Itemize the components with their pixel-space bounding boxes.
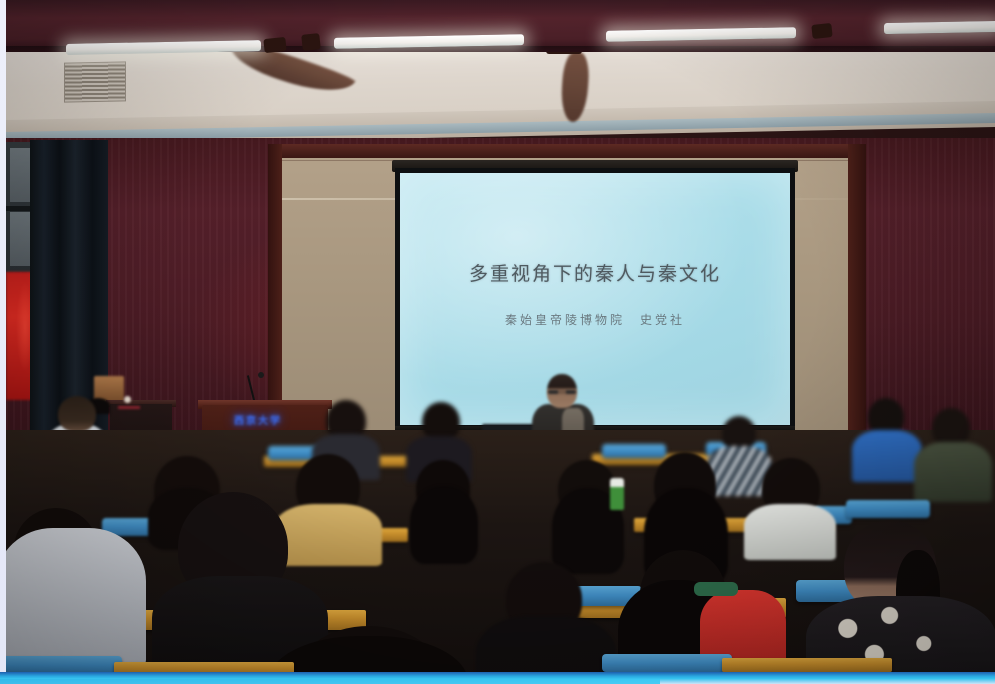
audience-collar-n3-green [694,582,738,596]
desk-bottom-left [114,662,294,672]
light-mount-bracket-b [301,33,321,51]
desk-bottom-right [722,658,892,672]
wall-panel-frame-top [268,144,862,158]
audience-body-n1-hood [6,528,146,668]
operator-head [58,396,96,432]
audience-seating-area [6,430,995,672]
slide-title: 多重视角下的秦人与秦文化 [400,259,790,286]
audience-body-f4-green [914,442,992,502]
av-table-edge [118,406,140,409]
projection-screen: 多重视角下的秦人与秦文化 秦始皇帝陵博物院 史党社 [400,173,790,425]
seatback-far-b [602,444,666,458]
seatback-bottom-right [602,654,732,672]
seatback-bottom-left [6,656,122,672]
audience-hair-m3 [410,486,478,564]
wall-panel-frame-right [848,144,866,456]
thermos-bottle [610,478,624,510]
fluorescent-tube-4 [884,21,995,34]
bottom-bar-progress[interactable] [0,679,660,684]
seatback-mid-c [846,500,930,518]
light-mount-bracket-c [811,23,832,39]
light-mount-bracket-a [263,37,286,53]
air-vent-grille-icon [64,61,126,102]
audience-body-n7 [476,616,616,672]
audience-body-f3-blue [852,430,922,482]
slide-subtitle: 秦始皇帝陵博物院 史党社 [400,311,790,328]
left-edge-rail [0,0,6,672]
screenshot-viewport: 多重视角下的秦人与秦文化 秦始皇帝陵博物院 史党社 西京大学 [0,0,995,684]
microphone-icon [258,372,264,378]
audience-body-m6-white [744,504,836,560]
bottom-status-bar[interactable] [0,672,995,684]
screen-glare [400,173,790,425]
audience-body-m2-tan [274,504,382,566]
speaker-glasses-icon [548,390,576,394]
podium-university-logo: 西京大学 [234,412,282,427]
lecture-hall-photo: 多重视角下的秦人与秦文化 秦始皇帝陵博物院 史党社 西京大学 [6,0,995,672]
av-indicator-light [124,396,131,403]
